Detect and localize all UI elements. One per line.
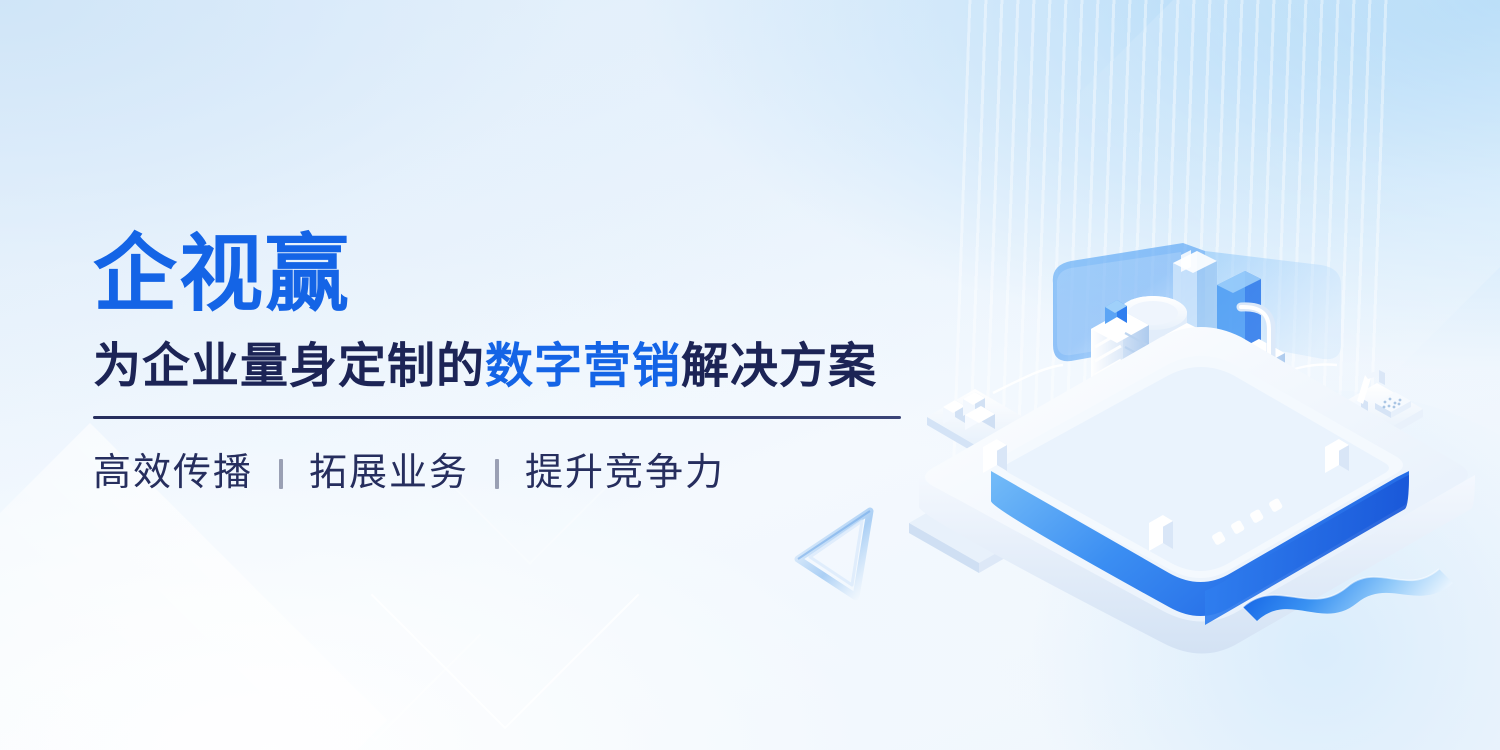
glass-triangle-icon — [782, 503, 892, 605]
hero-subtitle: 为企业量身定制的数字营销解决方案 — [93, 340, 923, 394]
background-chevron-1 — [371, 461, 640, 730]
hero-illustration — [905, 225, 1490, 655]
subtitle-part-1: 为企业量身定制的 — [93, 340, 485, 393]
hero-text-block: 企视赢 为企业量身定制的数字营销解决方案 高效传播 拓展业务 提升竞争力 — [93, 232, 923, 496]
section-divider — [93, 416, 901, 419]
hero-banner: 企视赢 为企业量身定制的数字营销解决方案 高效传播 拓展业务 提升竞争力 — [0, 0, 1500, 750]
tagline-item-2: 拓展业务 — [309, 451, 469, 497]
subtitle-highlight: 数字营销 — [485, 340, 681, 393]
tagline-item-3: 提升竞争力 — [525, 451, 725, 497]
brand-title: 企视赢 — [93, 232, 923, 316]
tagline-row: 高效传播 拓展业务 提升竞争力 — [93, 451, 923, 497]
background-chevron-2 — [269, 529, 481, 741]
tagline-item-1: 高效传播 — [93, 451, 253, 497]
rounded-square-base — [909, 327, 1475, 654]
subtitle-part-3: 解决方案 — [681, 340, 877, 393]
tagline-separator-1 — [279, 459, 283, 489]
tagline-separator-2 — [495, 459, 499, 489]
